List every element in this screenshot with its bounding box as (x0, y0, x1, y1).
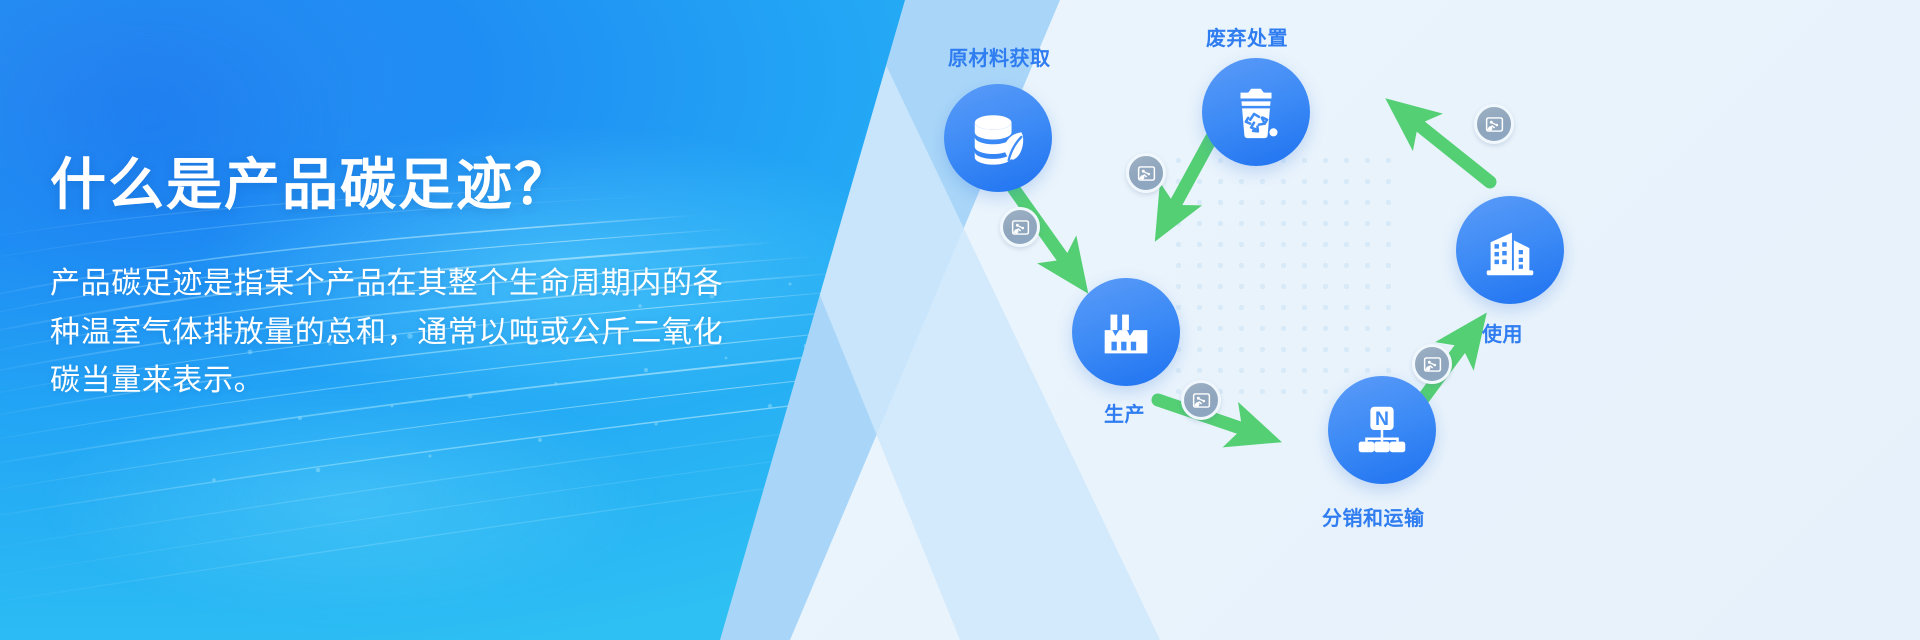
lifecycle-diagram: 原材料获取 废弃处置 (900, 0, 1920, 640)
svg-text:N: N (1375, 408, 1389, 430)
node-label-production: 生产 (1104, 398, 1145, 427)
image-placeholder-icon (1484, 114, 1505, 135)
carbon-footprint-banner: 什么是产品碳足迹？ 产品碳足迹是指某个产品在其整个生命周期内的各种温室气体排放量… (0, 0, 1920, 640)
node-use[interactable] (1456, 196, 1564, 304)
node-raw-material[interactable] (944, 84, 1052, 192)
trash-recycle-icon (1225, 81, 1287, 143)
node-label-raw-material: 原材料获取 (948, 42, 1051, 71)
node-production[interactable] (1072, 278, 1180, 386)
node-waste-disposal[interactable] (1202, 58, 1310, 166)
network-node-icon: N (1351, 399, 1413, 461)
factory-icon (1095, 301, 1157, 363)
node-label-distribution: 分销和运输 (1322, 502, 1425, 531)
badge-distribution-to-use[interactable] (1412, 344, 1452, 384)
buildings-icon (1479, 219, 1541, 281)
node-distribution[interactable]: N (1328, 376, 1436, 484)
node-label-waste-disposal: 废弃处置 (1206, 22, 1288, 51)
badge-use-to-waste[interactable] (1474, 104, 1514, 144)
hero-description: 产品碳足迹是指某个产品在其整个生命周期内的各种温室气体排放量的总和，通常以吨或公… (50, 260, 750, 406)
image-placeholder-icon (1010, 217, 1031, 238)
page-title: 什么是产品碳足迹？ (50, 152, 750, 218)
badge-raw-to-production[interactable] (1000, 207, 1040, 247)
image-placeholder-icon (1136, 163, 1157, 184)
hero-text-block: 什么是产品碳足迹？ 产品碳足迹是指某个产品在其整个生命周期内的各种温室气体排放量… (50, 152, 750, 406)
badge-waste-to-raw[interactable] (1126, 153, 1166, 193)
image-placeholder-icon (1191, 390, 1212, 411)
node-label-use: 使用 (1482, 318, 1523, 347)
badge-production-to-distribution[interactable] (1181, 380, 1221, 420)
cycle-arrows (900, 0, 1920, 640)
database-leaf-icon (967, 107, 1029, 169)
image-placeholder-icon (1422, 354, 1443, 375)
